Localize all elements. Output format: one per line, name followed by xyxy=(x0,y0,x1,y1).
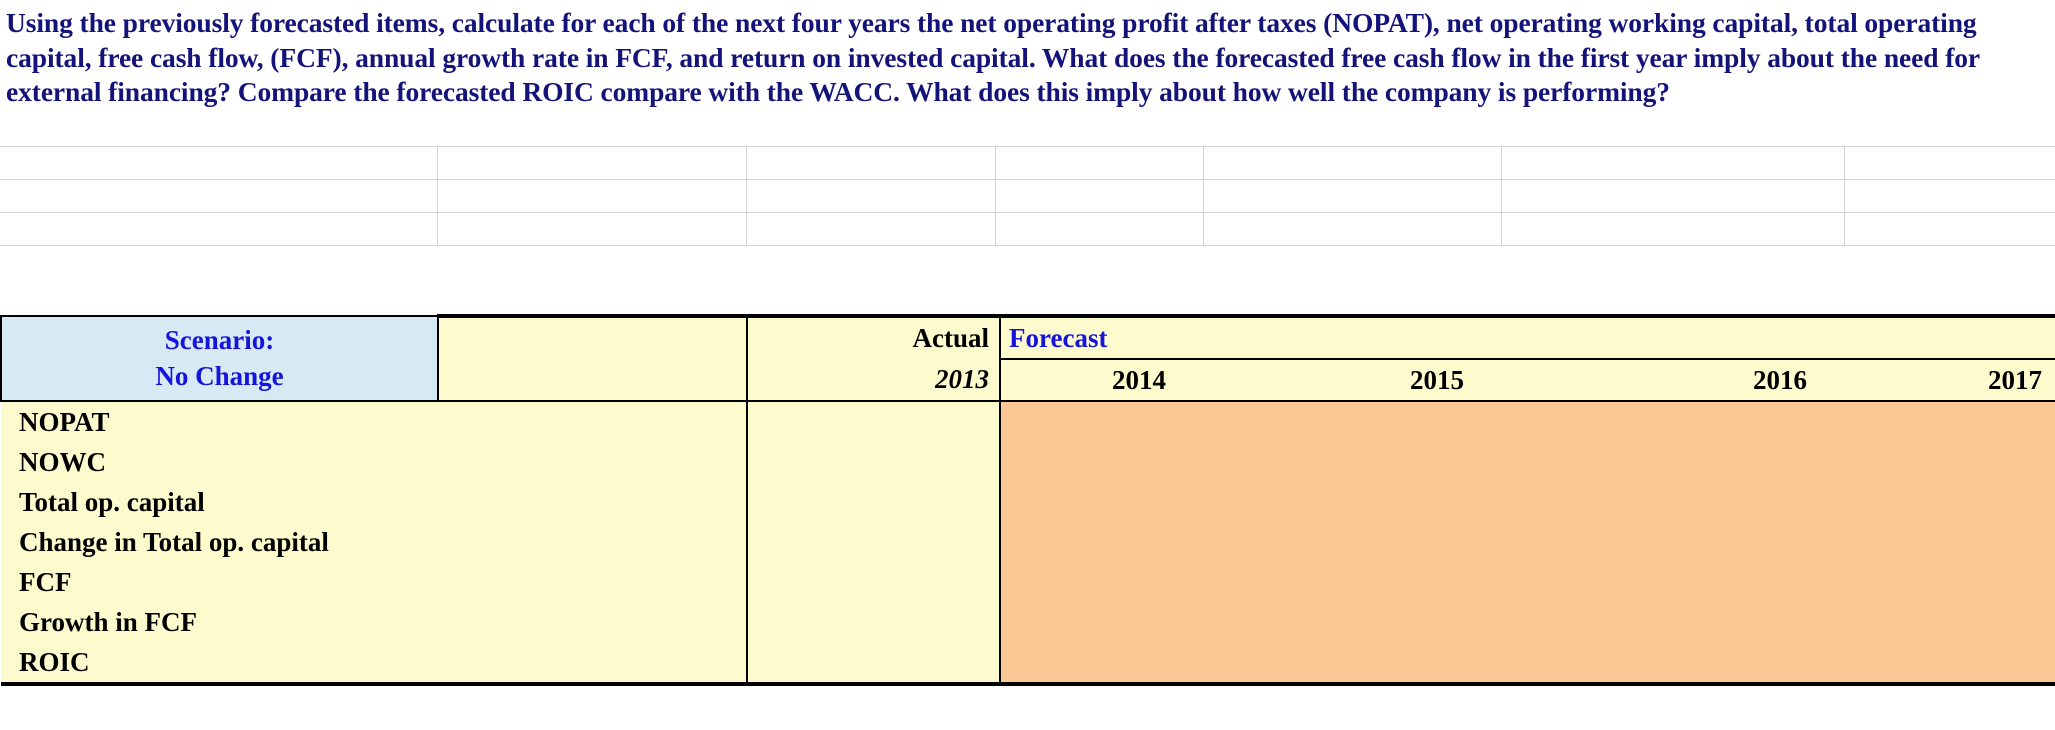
cell-growth-fcf-2017[interactable] xyxy=(1845,602,2055,642)
forecast-year-2014: 2014 xyxy=(1000,359,1204,401)
forecast-year-2017: 2017 xyxy=(1845,359,2055,401)
cell-roic-2016[interactable] xyxy=(1502,642,1845,684)
row-label-nowc: NOWC xyxy=(1,442,747,482)
question-text: Using the previously forecasted items, c… xyxy=(6,6,2051,110)
empty-cell[interactable] xyxy=(746,147,995,180)
cell-fcf-2016[interactable] xyxy=(1502,562,1845,602)
cell-roic-2017[interactable] xyxy=(1845,642,2055,684)
empty-cell[interactable] xyxy=(0,180,437,213)
table-row: ROIC xyxy=(1,642,2055,684)
cell-nowc-2014[interactable] xyxy=(1000,442,1204,482)
cell-fcf-2013[interactable] xyxy=(747,562,1000,602)
cell-total-op-capital-2013[interactable] xyxy=(747,482,1000,522)
header-spacer-cell[interactable] xyxy=(438,359,747,401)
table-row: NOWC xyxy=(1,442,2055,482)
header-spacer-cell[interactable] xyxy=(438,316,747,359)
empty-cell[interactable] xyxy=(1203,213,1501,246)
empty-cell[interactable] xyxy=(1501,180,1844,213)
forecast-header: Forecast xyxy=(1000,316,2055,359)
cell-fcf-2014[interactable] xyxy=(1000,562,1204,602)
cell-nopat-2017[interactable] xyxy=(1845,401,2055,442)
empty-cell[interactable] xyxy=(0,213,437,246)
cell-nopat-2015[interactable] xyxy=(1204,401,1502,442)
cell-change-total-op-capital-2016[interactable] xyxy=(1502,522,1845,562)
empty-cell[interactable] xyxy=(1844,147,2055,180)
table-row: FCF xyxy=(1,562,2055,602)
cell-fcf-2015[interactable] xyxy=(1204,562,1502,602)
empty-cell[interactable] xyxy=(746,180,995,213)
cell-roic-2015[interactable] xyxy=(1204,642,1502,684)
forecast-year-2015: 2015 xyxy=(1204,359,1502,401)
empty-grid-row xyxy=(0,147,2055,180)
row-label-roic: ROIC xyxy=(1,642,747,684)
empty-cell[interactable] xyxy=(1501,213,1844,246)
cell-total-op-capital-2017[interactable] xyxy=(1845,482,2055,522)
empty-cell[interactable] xyxy=(437,180,746,213)
empty-cell[interactable] xyxy=(1203,180,1501,213)
cell-total-op-capital-2016[interactable] xyxy=(1502,482,1845,522)
scenario-box[interactable]: Scenario: No Change xyxy=(1,316,438,401)
cell-nowc-2016[interactable] xyxy=(1502,442,1845,482)
cell-nowc-2015[interactable] xyxy=(1204,442,1502,482)
cell-change-total-op-capital-2017[interactable] xyxy=(1845,522,2055,562)
cell-growth-fcf-2016[interactable] xyxy=(1502,602,1845,642)
cell-change-total-op-capital-2014[interactable] xyxy=(1000,522,1204,562)
empty-spreadsheet-grid xyxy=(0,146,2055,246)
empty-cell[interactable] xyxy=(1844,180,2055,213)
empty-grid-row xyxy=(0,213,2055,246)
scenario-value: No Change xyxy=(2,358,437,394)
cell-nowc-2017[interactable] xyxy=(1845,442,2055,482)
empty-cell[interactable] xyxy=(995,213,1203,246)
empty-cell[interactable] xyxy=(0,147,437,180)
cell-growth-fcf-2015[interactable] xyxy=(1204,602,1502,642)
row-label-nopat: NOPAT xyxy=(1,401,747,442)
cell-growth-fcf-2014[interactable] xyxy=(1000,602,1204,642)
forecast-table: Scenario: No Change Actual Forecast 2013… xyxy=(0,314,2055,686)
empty-cell[interactable] xyxy=(995,147,1203,180)
scenario-label: Scenario: xyxy=(2,322,437,358)
cell-total-op-capital-2014[interactable] xyxy=(1000,482,1204,522)
cell-nopat-2014[interactable] xyxy=(1000,401,1204,442)
cell-nopat-2013[interactable] xyxy=(747,401,1000,442)
cell-roic-2014[interactable] xyxy=(1000,642,1204,684)
actual-header: Actual xyxy=(747,316,1000,359)
table-row: Growth in FCF xyxy=(1,602,2055,642)
empty-grid-row xyxy=(0,180,2055,213)
table-row: NOPAT xyxy=(1,401,2055,442)
forecast-year-2016: 2016 xyxy=(1502,359,1845,401)
table-row: Total op. capital xyxy=(1,482,2055,522)
cell-change-total-op-capital-2015[interactable] xyxy=(1204,522,1502,562)
row-label-fcf: FCF xyxy=(1,562,747,602)
row-label-change-in-total-op-capital: Change in Total op. capital xyxy=(1,522,747,562)
cell-total-op-capital-2015[interactable] xyxy=(1204,482,1502,522)
question-prompt: Using the previously forecasted items, c… xyxy=(0,0,2055,110)
empty-cell[interactable] xyxy=(1844,213,2055,246)
empty-cell[interactable] xyxy=(1501,147,1844,180)
empty-cell[interactable] xyxy=(1203,147,1501,180)
row-label-growth-in-fcf: Growth in FCF xyxy=(1,602,747,642)
cell-fcf-2017[interactable] xyxy=(1845,562,2055,602)
empty-cell[interactable] xyxy=(746,213,995,246)
table-header-row-1: Scenario: No Change Actual Forecast xyxy=(1,316,2055,359)
row-label-total-op-capital: Total op. capital xyxy=(1,482,747,522)
cell-growth-fcf-2013[interactable] xyxy=(747,602,1000,642)
table-row: Change in Total op. capital xyxy=(1,522,2055,562)
cell-change-total-op-capital-2013[interactable] xyxy=(747,522,1000,562)
empty-cell[interactable] xyxy=(437,147,746,180)
empty-cell[interactable] xyxy=(995,180,1203,213)
cell-nowc-2013[interactable] xyxy=(747,442,1000,482)
cell-nopat-2016[interactable] xyxy=(1502,401,1845,442)
actual-year-header: 2013 xyxy=(747,359,1000,401)
cell-roic-2013[interactable] xyxy=(747,642,1000,684)
empty-cell[interactable] xyxy=(437,213,746,246)
